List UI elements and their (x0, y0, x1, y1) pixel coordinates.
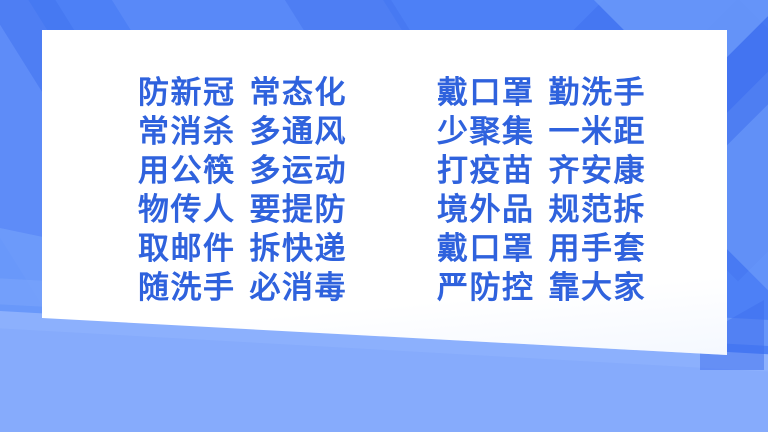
slogan-phrase: 一米距 (549, 113, 647, 152)
slogan-phrase: 用手套 (549, 230, 647, 269)
poster-canvas: 防新冠 常态化 戴口罩 勤洗手 常消杀 多通风 少聚集 一米距 用公筷 多运动 … (0, 0, 768, 432)
slogan-row: 防新冠 常态化 (138, 74, 359, 113)
slogan-row: 境外品 规范拆 (437, 191, 658, 230)
slogan-phrase: 常消杀 (138, 113, 236, 152)
slogan-phrase: 规范拆 (549, 191, 647, 230)
slogan-phrase: 用公筷 (138, 152, 236, 191)
slogan-row: 取邮件 拆快递 (138, 230, 359, 269)
slogan-phrase: 境外品 (437, 191, 535, 230)
slogan-phrase: 严防控 (437, 269, 535, 308)
slogan-phrase: 戴口罩 (437, 230, 535, 269)
slogan-row: 戴口罩 勤洗手 (437, 74, 658, 113)
slogan-phrase: 必消毒 (250, 269, 348, 308)
slogan-phrase: 要提防 (250, 191, 348, 230)
slogan-row: 物传人 要提防 (138, 191, 359, 230)
slogan-row: 用公筷 多运动 (138, 152, 359, 191)
slogan-phrase: 防新冠 (138, 74, 236, 113)
slogan-phrase: 常态化 (250, 74, 348, 113)
slogan-grid: 防新冠 常态化 戴口罩 勤洗手 常消杀 多通风 少聚集 一米距 用公筷 多运动 … (138, 74, 658, 308)
slogan-phrase: 戴口罩 (437, 74, 535, 113)
slogan-row: 打疫苗 齐安康 (437, 152, 658, 191)
slogan-phrase: 拆快递 (250, 230, 348, 269)
slogan-phrase: 靠大家 (549, 269, 647, 308)
slogan-phrase: 打疫苗 (437, 152, 535, 191)
slogan-row: 常消杀 多通风 (138, 113, 359, 152)
slogan-phrase: 随洗手 (138, 269, 236, 308)
slogan-phrase: 多运动 (250, 152, 348, 191)
slogan-row: 戴口罩 用手套 (437, 230, 658, 269)
slogan-phrase: 少聚集 (437, 113, 535, 152)
slogan-phrase: 齐安康 (549, 152, 647, 191)
slogan-row: 严防控 靠大家 (437, 269, 658, 308)
slogan-row: 随洗手 必消毒 (138, 269, 359, 308)
slogan-phrase: 取邮件 (138, 230, 236, 269)
slogan-phrase: 物传人 (138, 191, 236, 230)
slogan-phrase: 勤洗手 (549, 74, 647, 113)
slogan-row: 少聚集 一米距 (437, 113, 658, 152)
slogan-phrase: 多通风 (250, 113, 348, 152)
